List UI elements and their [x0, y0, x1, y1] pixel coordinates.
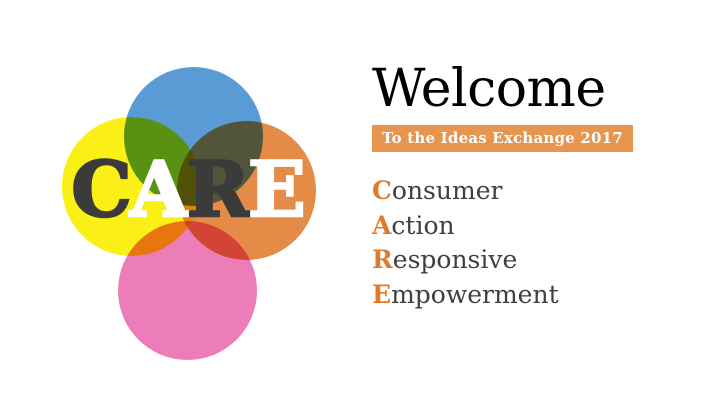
slide-content: Welcome To the Ideas Exchange 2017 Consu…	[372, 62, 692, 312]
subtitle-banner: To the Ideas Exchange 2017	[372, 125, 633, 153]
acronym-word-responsive: esponsive	[393, 245, 518, 274]
page-title: Welcome	[372, 62, 692, 117]
list-item: Action	[372, 209, 692, 244]
care-letter-a: A	[130, 152, 187, 228]
care-letter-r: R	[187, 152, 248, 228]
list-item: Consumer	[372, 174, 692, 209]
acronym-word-consumer: onsumer	[392, 176, 503, 205]
care-acronym-list: Consumer Action Responsive Empowerment	[372, 174, 692, 312]
care-letter-c: C	[71, 152, 130, 228]
list-item: Empowerment	[372, 278, 692, 313]
pink-circle	[118, 221, 257, 360]
acronym-initial-r: R	[372, 245, 393, 274]
care-logo: CARE	[55, 55, 320, 335]
list-item: Responsive	[372, 243, 692, 278]
presentation-slide: CARE Welcome To the Ideas Exchange 2017 …	[0, 0, 720, 405]
care-letter-e: E	[248, 152, 304, 228]
acronym-initial-c: C	[372, 176, 392, 205]
acronym-word-action: ction	[391, 211, 454, 240]
acronym-initial-e: E	[372, 280, 391, 309]
acronym-initial-a: A	[372, 211, 391, 240]
care-wordmark: CARE	[55, 151, 320, 229]
acronym-word-empowerment: mpowerment	[391, 280, 559, 309]
